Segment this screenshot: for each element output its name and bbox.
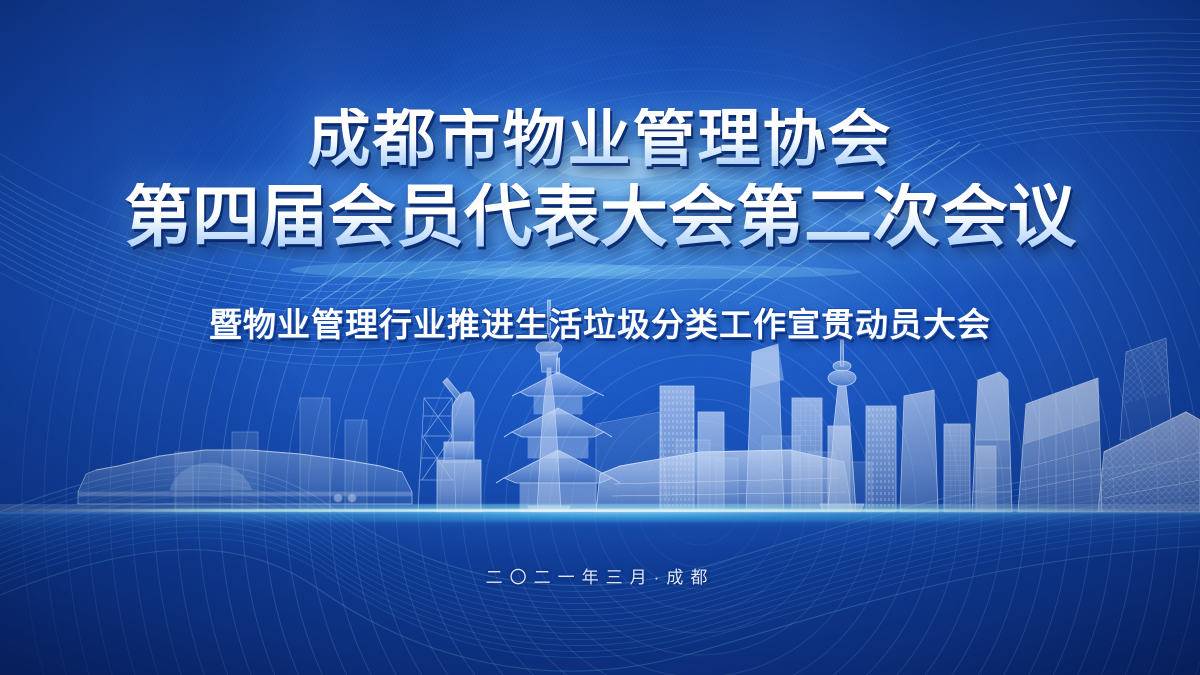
pagoda [496,358,620,512]
title-block: 成都市物业管理协会 第四届会员代表大会第二次会议 [0,108,1200,251]
highrise-cluster-right [866,390,996,512]
title-line-2: 第四届会员代表大会第二次会议 [0,183,1200,251]
observation-tower-right [820,340,864,512]
poster-canvas: 成都市物业管理协会 第四届会员代表大会第二次会议 暨物业管理行业推进生活垃圾分类… [0,0,1200,675]
title-line-1: 成都市物业管理协会 [0,108,1200,171]
slanted-tower [1018,378,1102,512]
statue-monument [437,378,481,512]
far-right-slab [1120,338,1172,440]
ifs-tower [972,372,1012,512]
midrise-cluster [660,344,850,512]
date-location-line: 二〇二一年三月·成都 [0,563,1200,588]
global-center [596,450,852,512]
ground-reflection [0,512,1200,675]
global-center-wedge [1098,412,1200,512]
subtitle: 暨物业管理行业推进生活垃圾分类工作宣贯动员大会 [0,298,1200,346]
museum-building [78,450,412,504]
lattice-tower [418,398,456,512]
